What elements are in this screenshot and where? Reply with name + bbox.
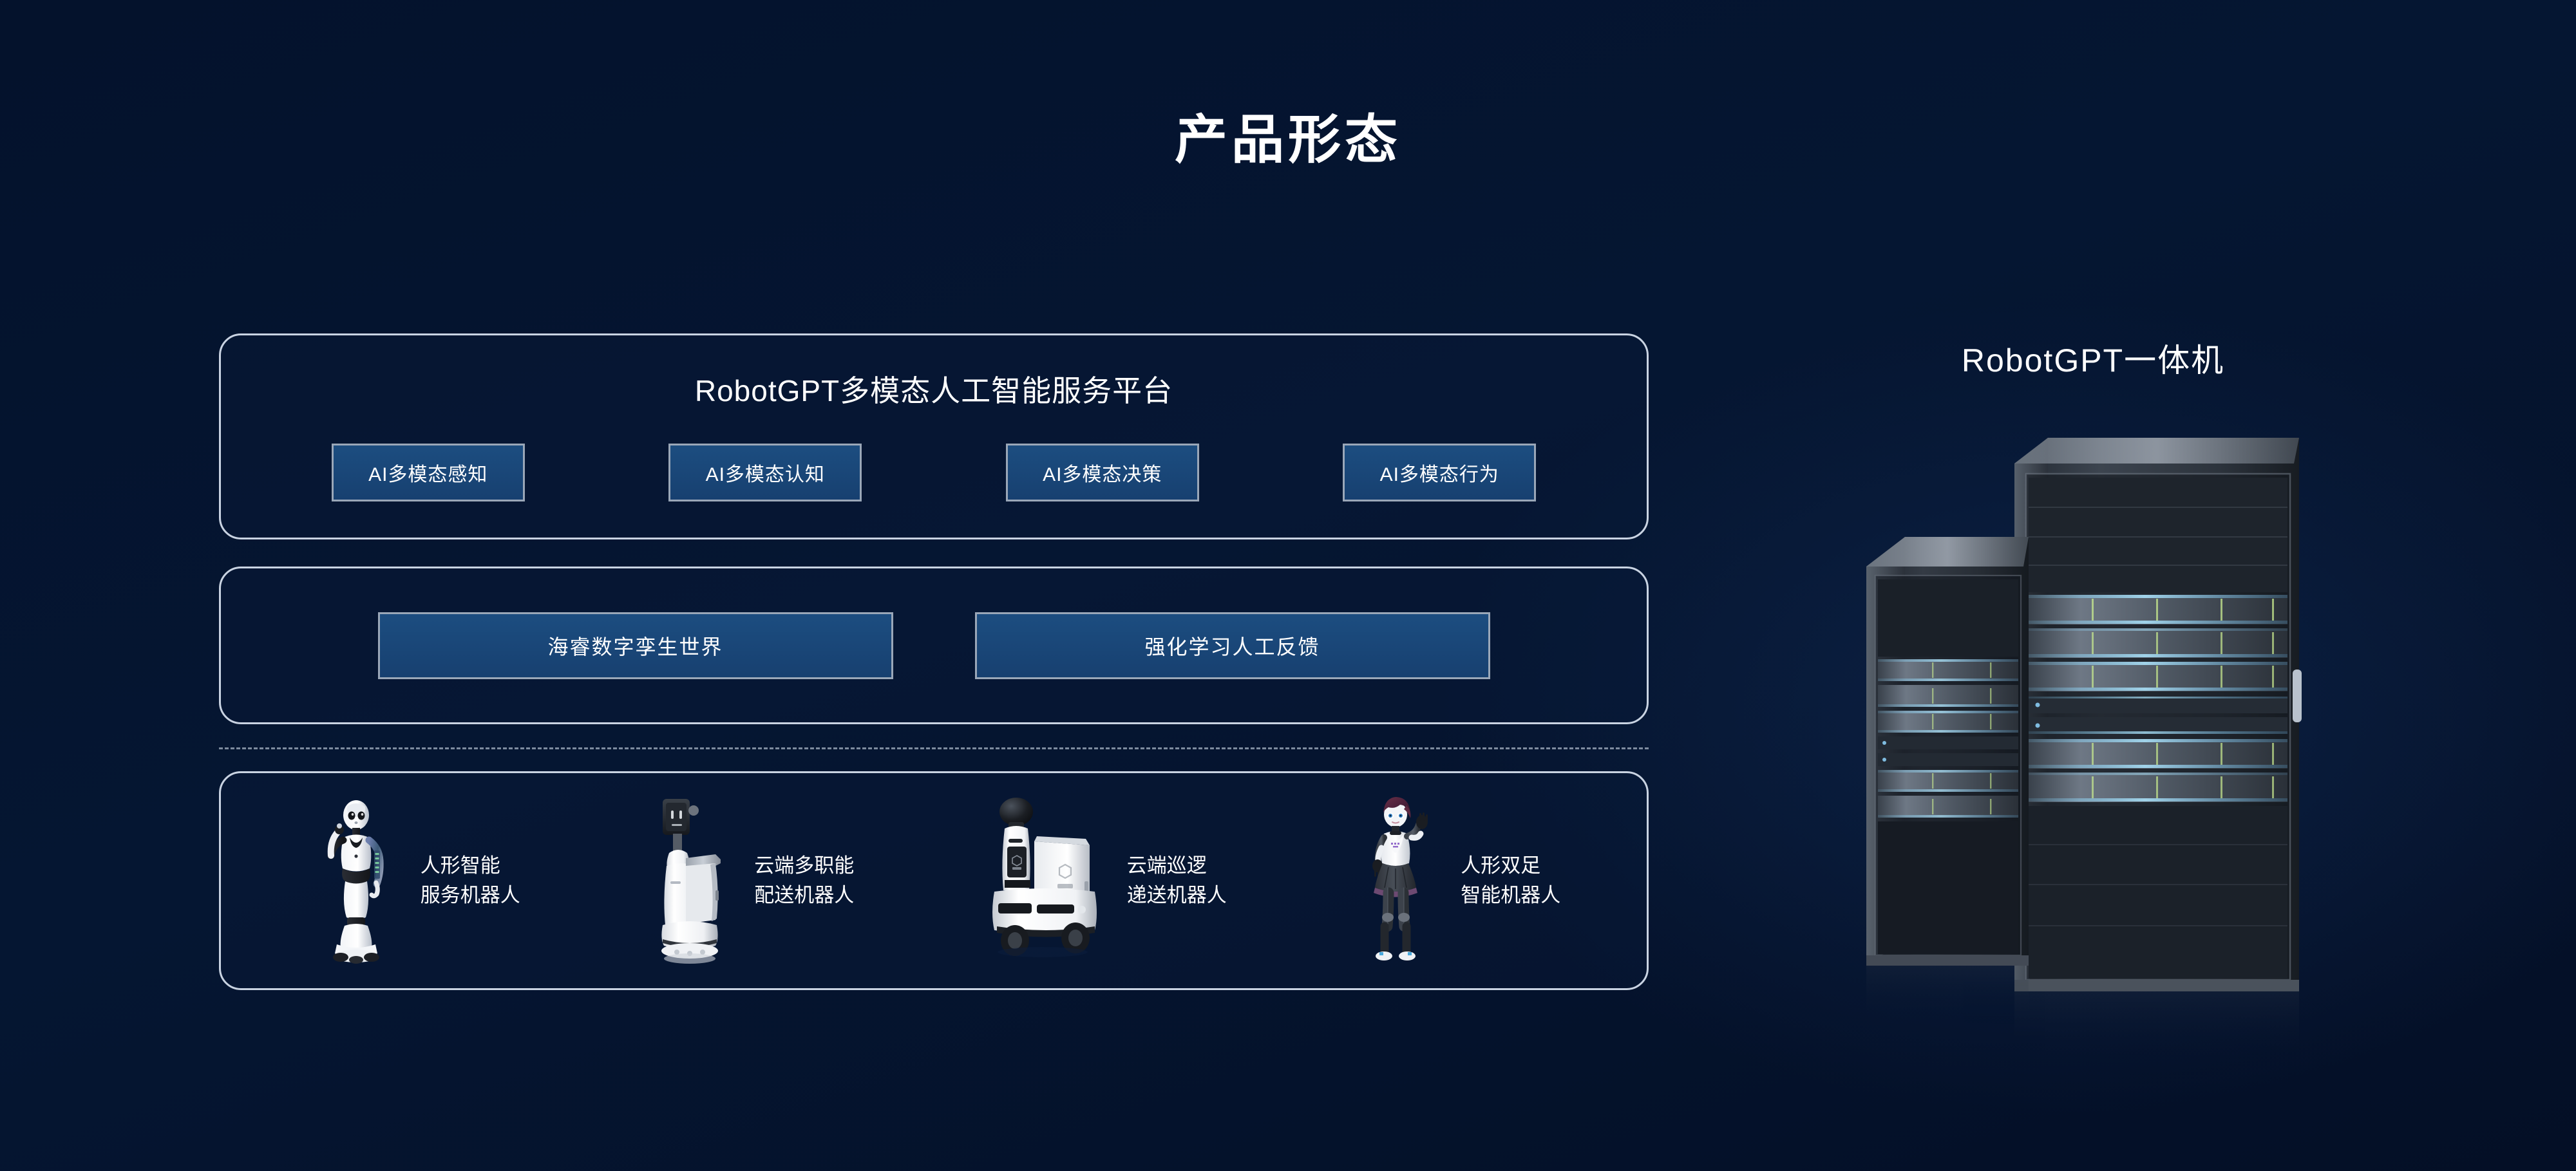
- robot-item-bipedal-android[interactable]: 人形双足 智能机器人: [1347, 794, 1560, 968]
- humanoid-service-robot-icon: [307, 794, 404, 968]
- robot-label-cloud-delivery: 云端多职能 配送机器人: [754, 851, 854, 911]
- chip-ai-behavior[interactable]: AI多模态行为: [1343, 444, 1536, 501]
- chip-ai-cognition[interactable]: AI多模态认知: [668, 444, 862, 501]
- robot-item-humanoid-service[interactable]: 人形智能 服务机器人: [307, 794, 520, 968]
- robot-item-patrol-vehicle[interactable]: 云端巡逻 递送机器人: [975, 794, 1227, 968]
- robot-item-cloud-delivery[interactable]: 云端多职能 配送机器人: [641, 794, 854, 968]
- bipedal-android-robot-icon: [1347, 794, 1444, 968]
- cloud-delivery-robot-icon: [641, 794, 737, 968]
- engine-panel: 海睿数字孪生世界 强化学习人工反馈: [219, 567, 1649, 724]
- chip-ai-perception[interactable]: AI多模态感知: [332, 444, 525, 501]
- robot-label-line2: 智能机器人: [1461, 881, 1560, 911]
- patrol-delivery-vehicle-icon: [975, 794, 1110, 968]
- chip-ai-decision[interactable]: AI多模态决策: [1006, 444, 1199, 501]
- robot-label-line1: 云端多职能: [754, 851, 854, 881]
- robot-label-line1: 云端巡逻: [1127, 851, 1227, 881]
- appliance-column: RobotGPT一体机: [1835, 335, 2351, 1070]
- slide-root: 产品形态 RobotGPT多模态人工智能服务平台 AI多模态感知 AI多模态认知…: [0, 0, 2576, 1171]
- bar-rlhf[interactable]: 强化学习人工反馈: [975, 612, 1490, 679]
- robot-label-humanoid-service: 人形智能 服务机器人: [421, 851, 520, 911]
- appliance-title: RobotGPT一体机: [1835, 335, 2351, 381]
- robot-panel: 人形智能 服务机器人: [219, 771, 1649, 990]
- platform-chip-row: AI多模态感知 AI多模态认知 AI多模态决策 AI多模态行为: [221, 444, 1647, 501]
- robot-label-line2: 递送机器人: [1127, 881, 1227, 911]
- robot-label-bipedal-android: 人形双足 智能机器人: [1461, 851, 1560, 911]
- page-title: 产品形态: [0, 97, 2576, 173]
- robot-label-patrol-vehicle: 云端巡逻 递送机器人: [1127, 851, 1227, 911]
- robot-label-line1: 人形智能: [421, 851, 520, 881]
- robot-label-line2: 服务机器人: [421, 881, 520, 911]
- platform-panel: RobotGPT多模态人工智能服务平台 AI多模态感知 AI多模态认知 AI多模…: [219, 333, 1649, 539]
- engine-bar-row: 海睿数字孪生世界 强化学习人工反馈: [221, 568, 1647, 722]
- left-column: RobotGPT多模态人工智能服务平台 AI多模态感知 AI多模态认知 AI多模…: [219, 333, 1649, 990]
- robot-row: 人形智能 服务机器人: [221, 773, 1647, 988]
- section-divider: [219, 747, 1649, 749]
- server-rack-icon: [1835, 426, 2351, 1070]
- robot-label-line2: 配送机器人: [754, 881, 854, 911]
- bar-digital-twin[interactable]: 海睿数字孪生世界: [378, 612, 893, 679]
- robot-label-line1: 人形双足: [1461, 851, 1560, 881]
- platform-title: RobotGPT多模态人工智能服务平台: [221, 335, 1647, 410]
